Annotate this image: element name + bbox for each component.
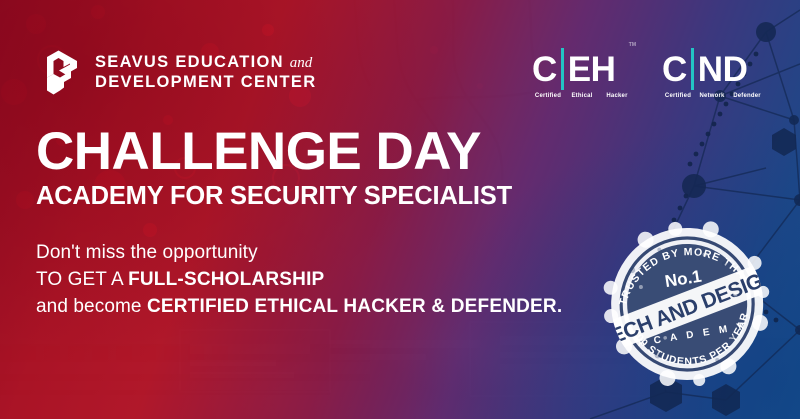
copy-line-2-text: TO GET A — [36, 269, 128, 290]
ceh-subtitle: Certified Ethical Hacker — [532, 93, 634, 99]
body-copy: Don't miss the opportunity TO GET A FULL… — [36, 240, 562, 321]
cnd-sub-certified: Certified — [662, 93, 694, 99]
ceh-sub-hacker: Hacker — [600, 93, 634, 99]
copy-line-2-highlight: FULL-SCHOLARSHIP — [128, 269, 324, 290]
cnd-letter-n: N — [698, 52, 723, 87]
ceh-divider-bar — [561, 48, 564, 90]
headline-subtitle: ACADEMY FOR SECURITY SPECIALIST — [36, 182, 512, 210]
cnd-sub-defender: Defender — [730, 93, 764, 99]
cnd-letter-c: C — [662, 52, 687, 87]
certification-logos: TM C E H Certified Ethical Hacker C N D … — [532, 48, 764, 99]
ceh-trademark-icon: TM — [629, 42, 636, 48]
seavus-logo-text: SEAVUS EDUCATION and DEVELOPMENT CENTER — [95, 53, 316, 92]
logo-and-word: and — [290, 55, 313, 71]
copy-line-2: TO GET A FULL-SCHOLARSHIP — [36, 267, 562, 294]
ceh-sub-ethical: Ethical — [564, 93, 600, 99]
headline-title: CHALLENGE DAY — [36, 127, 512, 178]
ceh-letter-e: E — [568, 52, 591, 87]
cnd-subtitle: Certified Network Defender — [662, 93, 764, 99]
ceh-letter-c: C — [532, 52, 557, 87]
cnd-sub-network: Network — [694, 93, 730, 99]
copy-line-3-highlight: CERTIFIED ETHICAL HACKER & DEFENDER. — [147, 296, 562, 317]
seavus-logo[interactable]: SEAVUS EDUCATION and DEVELOPMENT CENTER — [36, 48, 316, 98]
cnd-logo[interactable]: C N D Certified Network Defender — [662, 48, 764, 99]
copy-line-3-text: and become — [36, 296, 147, 317]
copy-line-3: and become CERTIFIED ETHICAL HACKER & DE… — [36, 294, 562, 321]
headline-block: CHALLENGE DAY ACADEMY FOR SECURITY SPECI… — [36, 127, 512, 210]
cnd-letter-d: D — [723, 52, 748, 87]
logo-line2: DEVELOPMENT CENTER — [95, 73, 316, 92]
ceh-letters: C E H — [532, 48, 634, 90]
trust-stamp-badge: TRUSTED BY MORE THAN 200 STUDENTS PER YE… — [586, 205, 788, 401]
logo-line1: SEAVUS EDUCATION — [95, 53, 284, 71]
copy-line-1: Don't miss the opportunity — [36, 240, 562, 267]
ceh-logo[interactable]: TM C E H Certified Ethical Hacker — [532, 48, 634, 99]
promo-banner: SEAVUS EDUCATION and DEVELOPMENT CENTER … — [0, 0, 800, 419]
ceh-sub-certified: Certified — [532, 93, 564, 99]
cnd-letters: C N D — [662, 48, 764, 90]
cnd-divider-bar — [691, 48, 694, 90]
ceh-letter-h: H — [591, 52, 616, 87]
seavus-cube-icon — [36, 48, 82, 98]
